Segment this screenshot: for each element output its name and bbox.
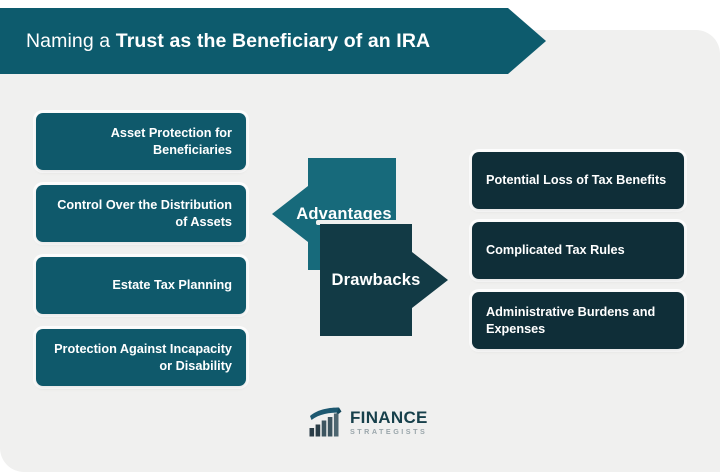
advantage-item-4-label: Protection Against Incapacity or Disabil…	[50, 341, 232, 375]
advantage-item-3-label: Estate Tax Planning	[112, 277, 232, 294]
advantages-column: Asset Protection for Beneficiaries Contr…	[36, 113, 246, 401]
advantage-item-3[interactable]: Estate Tax Planning	[36, 257, 246, 314]
drawbacks-arrow-right-icon[interactable]: Drawbacks	[320, 224, 448, 336]
drawback-item-1-label: Potential Loss of Tax Benefits	[486, 172, 666, 189]
drawback-item-3-label: Administrative Burdens and Expenses	[486, 304, 670, 338]
logo-wordmark: FINANCE STRATEGISTS	[350, 409, 428, 435]
drawback-item-1[interactable]: Potential Loss of Tax Benefits	[472, 152, 684, 209]
bar-chart-arrow-logo-mark-icon	[308, 407, 344, 437]
page-title-bold: Trust as the Beneficiary of an IRA	[116, 30, 430, 52]
center-arrows: Advantages Drawbacks	[272, 158, 448, 338]
infographic-canvas: Naming a Trust as the Beneficiary of an …	[0, 0, 720, 472]
drawback-item-2-label: Complicated Tax Rules	[486, 242, 625, 259]
drawback-item-2[interactable]: Complicated Tax Rules	[472, 222, 684, 279]
advantage-item-2[interactable]: Control Over the Distribution of Assets	[36, 185, 246, 242]
page-title-regular: Naming a	[26, 30, 116, 52]
drawbacks-column: Potential Loss of Tax Benefits Complicat…	[472, 152, 684, 362]
page-title: Naming a Trust as the Beneficiary of an …	[0, 30, 430, 53]
drawbacks-arrow-label: Drawbacks	[332, 271, 421, 290]
advantage-item-1[interactable]: Asset Protection for Beneficiaries	[36, 113, 246, 170]
finance-strategists-logo: FINANCE STRATEGISTS	[308, 405, 428, 439]
header-banner: Naming a Trust as the Beneficiary of an …	[0, 8, 546, 74]
drawback-item-3[interactable]: Administrative Burdens and Expenses	[472, 292, 684, 349]
logo-word-strategists: STRATEGISTS	[350, 428, 428, 435]
logo-word-finance: FINANCE	[350, 409, 428, 426]
advantage-item-4[interactable]: Protection Against Incapacity or Disabil…	[36, 329, 246, 386]
arrow-notch-vertical	[396, 158, 401, 226]
advantage-item-1-label: Asset Protection for Beneficiaries	[50, 125, 232, 159]
advantage-item-2-label: Control Over the Distribution of Assets	[50, 197, 232, 231]
